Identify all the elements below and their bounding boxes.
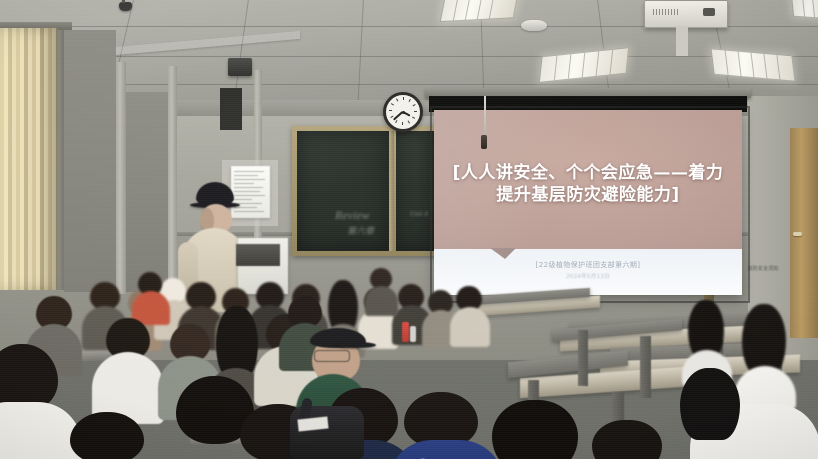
projector xyxy=(644,0,728,28)
screen-pull-cord[interactable] xyxy=(484,96,486,138)
head xyxy=(70,412,144,459)
wall-pillar xyxy=(116,62,126,294)
hair xyxy=(680,368,740,440)
screen-pull-cord-handle[interactable] xyxy=(481,135,487,149)
glasses-icon xyxy=(314,350,350,362)
wall-clock xyxy=(383,92,423,132)
cap-brim xyxy=(336,342,376,348)
bench-leg xyxy=(578,330,588,386)
water-bottle xyxy=(402,322,409,342)
wall-pillar xyxy=(168,66,177,294)
wall-speaker xyxy=(228,58,252,76)
door-handle[interactable] xyxy=(793,232,802,236)
water-bottle xyxy=(410,326,416,342)
blackboard-panel-left xyxy=(297,131,389,251)
screen-bevel xyxy=(430,106,750,303)
classroom-scene: Review 第六章 Unit 4 消防安全须知 [人人讲安全、个个会应急——着… xyxy=(0,0,818,459)
window-pane xyxy=(64,30,116,292)
podium-monitor xyxy=(236,244,280,266)
ceiling-light-panel xyxy=(791,0,818,20)
hair xyxy=(492,400,578,459)
doorway-opening xyxy=(126,92,168,292)
bench-leg xyxy=(640,336,651,398)
torso xyxy=(450,307,490,347)
security-camera-icon xyxy=(119,2,132,11)
torso-patterned xyxy=(388,440,504,459)
torso xyxy=(0,402,82,459)
clock-center-pin xyxy=(402,111,405,114)
curtain-light-glow xyxy=(0,28,62,290)
doorway-opening-dark xyxy=(220,88,242,130)
projector-mount xyxy=(676,26,688,56)
hair xyxy=(742,304,786,374)
wall-notice-paper xyxy=(231,166,270,218)
blackboard-divider xyxy=(389,131,394,251)
wall-sign-text: 消防安全须知 xyxy=(745,264,781,274)
smoke-detector-icon xyxy=(521,20,547,31)
hair xyxy=(592,420,662,459)
torso xyxy=(365,286,398,316)
